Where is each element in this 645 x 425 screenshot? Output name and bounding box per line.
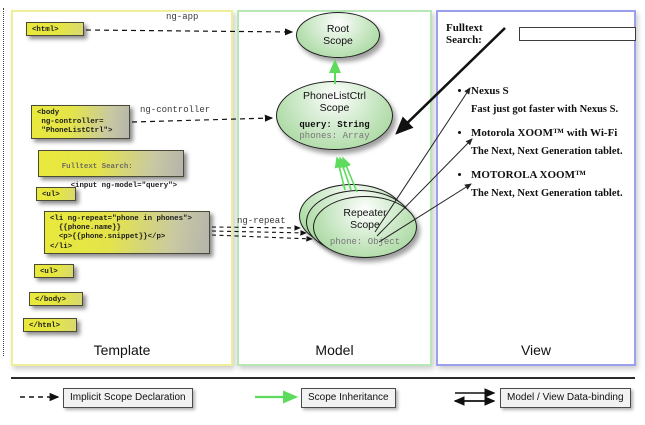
diagram-canvas: Template Model View <html> <body ng-cont… [0,0,645,425]
code-box-ul-open: <ul> [36,187,76,201]
code-box-search-label: Fulltext Search: [62,163,133,171]
legend-divider [11,377,635,379]
left-margin-rule [3,8,5,356]
bullet-icon [458,131,461,134]
scope-root-title-1: Root [327,23,349,35]
label-ng-repeat: ng-repeat [237,216,286,226]
code-box-html-open: <html> [26,22,84,36]
panel-template-label: Template [13,342,231,358]
phone-snippet: The Next, Next Generation tablet. [471,188,628,200]
list-item: Nexus S Fast just got faster with Nexus … [458,85,628,116]
search-row: Fulltext Search: [446,22,636,46]
code-box-body-open: <body ng-controller= "PhoneListCtrl"> [31,105,130,139]
scope-repeater-prop-phone: phone: Object [330,237,400,247]
list-item: MOTOROLA XOOM™ The Next, Next Generation… [458,169,628,200]
scope-phonelistctrl-prop-phones: phones: Array [299,131,369,141]
scope-root-title-2: Scope [323,35,353,47]
scope-root: Root Scope [296,12,380,58]
phone-snippet: Fast just got faster with Nexus S. [471,104,628,116]
phone-name: MOTOROLA XOOM™ [471,169,628,182]
phone-snippet: The Next, Next Generation tablet. [471,146,628,158]
legend-item-scope-inheritance: Scope Inheritance [301,388,396,408]
search-input[interactable] [519,27,636,41]
code-box-ul-close: <ul> [34,264,74,278]
code-box-html-close: </html> [23,318,77,332]
phone-list: Nexus S Fast just got faster with Nexus … [458,85,628,209]
scope-repeater: Repeater Scope phone: Object [313,196,417,258]
scope-repeater-title-1: Repeater [343,207,386,219]
phone-name: Motorola XOOM™ with Wi-Fi [471,127,628,140]
legend-item-model-view-data-binding: Model / View Data-binding [500,388,631,408]
code-box-body-close: </body> [29,292,83,306]
code-box-search-input-markup: <input ng-model="query"> [62,182,177,190]
panel-model-label: Model [239,342,430,358]
scope-repeater-title-2: Scope [350,219,380,231]
phone-name: Nexus S [471,85,628,98]
code-box-fulltext-search: Fulltext Search: <input ng-model="query"… [38,150,184,177]
scope-phonelistctrl-title-1: PhoneListCtrl [303,90,366,102]
scope-phonelistctrl-prop-query: query: String [299,120,369,130]
label-ng-app: ng-app [166,12,198,22]
legend-item-implicit-scope-declaration: Implicit Scope Declaration [63,388,193,408]
legend: Implicit Scope Declaration Scope Inherit… [11,380,635,416]
scope-phonelistctrl-title-2: Scope [320,102,350,114]
search-label: Fulltext Search: [446,22,514,46]
code-box-li-repeat: <li ng-repeat="phone in phones"> {{phone… [44,211,210,254]
view-content: Fulltext Search: Nexus S Fast just got f… [436,10,636,366]
label-ng-controller: ng-controller [140,105,210,115]
scope-phonelistctrl: PhoneListCtrl Scope query: String phones… [276,81,393,150]
bullet-icon [458,173,461,176]
list-item: Motorola XOOM™ with Wi-Fi The Next, Next… [458,127,628,158]
bullet-icon [458,89,461,92]
